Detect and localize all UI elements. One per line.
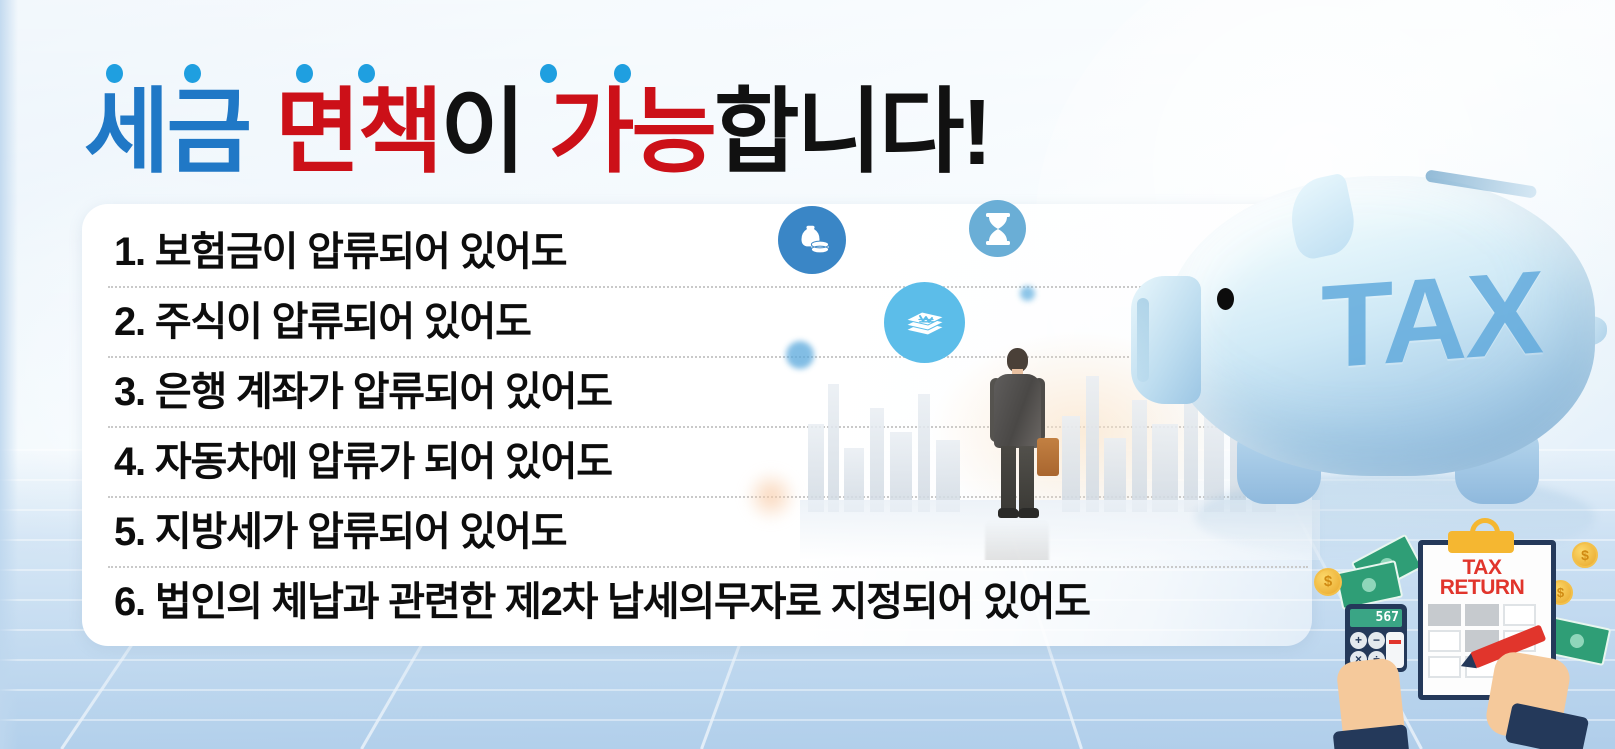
businessman-right-leg bbox=[1019, 446, 1034, 512]
headline-segment-red-1: 면책 bbox=[275, 86, 440, 179]
headline-segment-blue: 세금 bbox=[84, 86, 249, 179]
form-cell bbox=[1503, 604, 1536, 626]
headline-segment-red-2: 가능 bbox=[549, 86, 714, 179]
businessman-right-shoe bbox=[1018, 508, 1039, 518]
calculator-display: 567 bbox=[1350, 609, 1402, 627]
page-title: 세금면책이가능합니다! bbox=[84, 86, 990, 179]
form-cell bbox=[1428, 656, 1461, 678]
tax-return-illustration: $ $ $ TAX RETURN 567 + − × ÷ bbox=[1272, 500, 1615, 749]
tax-exemption-banner: 세금면책이가능합니다! 1. 보험금이 압류되어 있어도 2. 주식이 압류되어… bbox=[0, 0, 1615, 749]
skyline-building bbox=[870, 408, 884, 512]
headline-segment-black-1: 이 bbox=[440, 86, 523, 179]
businessman-torso bbox=[994, 374, 1041, 448]
form-cell bbox=[1428, 630, 1461, 652]
businessman-left-leg bbox=[1001, 446, 1016, 512]
coin-icon: $ bbox=[1314, 568, 1342, 596]
briefcase bbox=[1037, 438, 1059, 476]
piggy-bank-snout bbox=[1131, 276, 1201, 404]
list-item: 6. 법인의 체납과 관련한 제2차 납세의무자로 지정되어 있어도 bbox=[108, 568, 1308, 636]
coin-icon: $ bbox=[1572, 542, 1598, 568]
form-cell bbox=[1465, 604, 1498, 626]
decorative-dot bbox=[1020, 286, 1035, 301]
tax-return-title: TAX RETURN bbox=[1418, 558, 1546, 598]
tax-return-title-line2: RETURN bbox=[1440, 576, 1525, 599]
businessman-left-shoe bbox=[998, 508, 1019, 518]
clipboard-clip bbox=[1448, 531, 1514, 553]
calculator-key-plus: + bbox=[1350, 632, 1367, 649]
banknote bbox=[1335, 560, 1404, 610]
hourglass-icon bbox=[969, 200, 1026, 257]
money-bag-icon bbox=[778, 206, 846, 274]
piggy-bank-tax-label: TAX bbox=[1321, 244, 1542, 395]
piggy-bank-eye bbox=[1217, 288, 1234, 310]
decorative-warm-glow bbox=[745, 470, 797, 522]
calculator-key-minus: − bbox=[1368, 632, 1385, 649]
headline-segment-black-2: 합니다! bbox=[714, 86, 990, 179]
businessman-figure bbox=[985, 348, 1049, 520]
businessman-reflection bbox=[985, 520, 1049, 560]
skyline-building bbox=[918, 394, 930, 512]
background-left-edge bbox=[0, 0, 18, 749]
headline-block: 세금면책이가능합니다! bbox=[84, 62, 1064, 182]
skyline-building bbox=[808, 424, 824, 512]
form-cell bbox=[1428, 604, 1461, 626]
right-sleeve-cuff bbox=[1505, 702, 1590, 749]
piggy-bank: TAX bbox=[1095, 148, 1615, 538]
skyline-building bbox=[828, 384, 839, 512]
skyline-building bbox=[1062, 416, 1080, 512]
